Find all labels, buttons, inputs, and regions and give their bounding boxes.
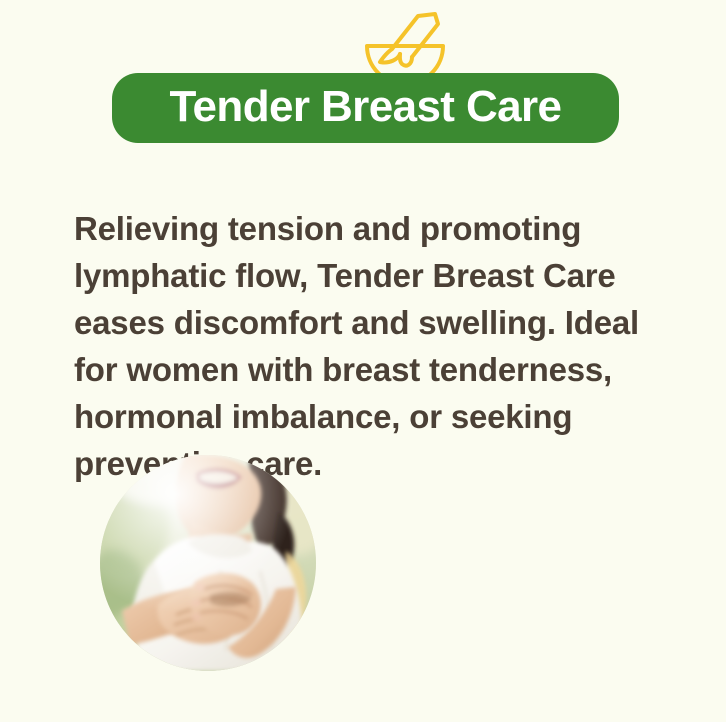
description-text: Relieving tension and promoting lymphati… <box>74 205 674 487</box>
woman-holding-chest-photo <box>100 455 316 671</box>
tender-breast-care-card: Tender Breast Care Relieving tension and… <box>0 0 726 722</box>
section-title-banner: Tender Breast Care <box>112 73 619 143</box>
page-title: Tender Breast Care <box>170 85 562 132</box>
